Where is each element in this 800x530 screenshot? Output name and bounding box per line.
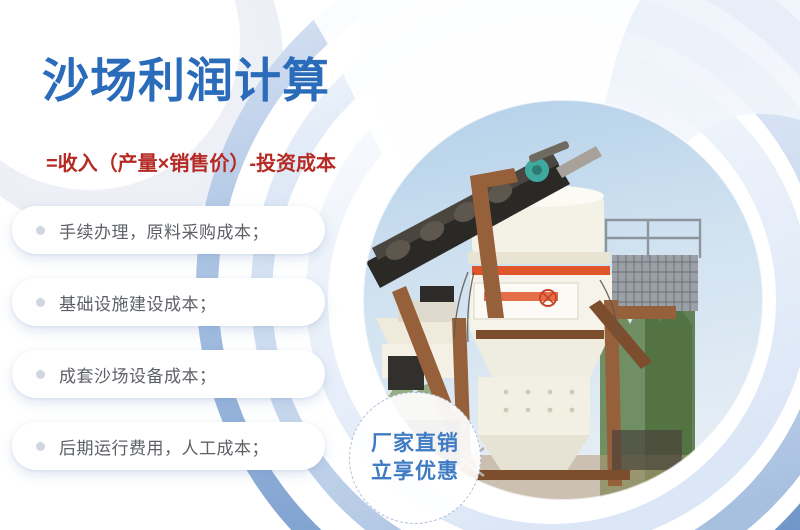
list-item[interactable]: 手续办理，原料采购成本； [12, 206, 325, 254]
promo-banner: 沙场利润计算 =收入（产量×销售价）-投资成本 手续办理，原料采购成本； 基础设… [0, 0, 800, 530]
bullet-dot-icon [36, 370, 45, 379]
bullet-dot-icon [36, 226, 45, 235]
bullet-dot-icon [36, 442, 45, 451]
list-item[interactable]: 成套沙场设备成本； [12, 350, 325, 398]
seal-line-1: 厂家直销 [371, 430, 459, 458]
list-item[interactable]: 后期运行费用，人工成本； [12, 422, 325, 470]
list-item-label: 成套沙场设备成本； [59, 362, 217, 387]
page-title: 沙场利润计算 [42, 56, 330, 106]
content-column: 沙场利润计算 =收入（产量×销售价）-投资成本 手续办理，原料采购成本； 基础设… [0, 0, 360, 530]
list-item[interactable]: 基础设施建设成本； [12, 278, 325, 326]
profit-formula: =收入（产量×销售价）-投资成本 [46, 147, 336, 176]
list-item-label: 基础设施建设成本； [59, 290, 217, 315]
seal-line-2: 立享优惠 [371, 458, 459, 486]
list-item-label: 手续办理，原料采购成本； [59, 218, 269, 243]
cost-item-list: 手续办理，原料采购成本； 基础设施建设成本； 成套沙场设备成本； 后期运行费用，… [0, 206, 360, 494]
bullet-dot-icon [36, 298, 45, 307]
list-item-label: 后期运行费用，人工成本； [59, 434, 269, 459]
promo-seal-badge[interactable]: 厂家直销 立享优惠 [349, 392, 481, 524]
